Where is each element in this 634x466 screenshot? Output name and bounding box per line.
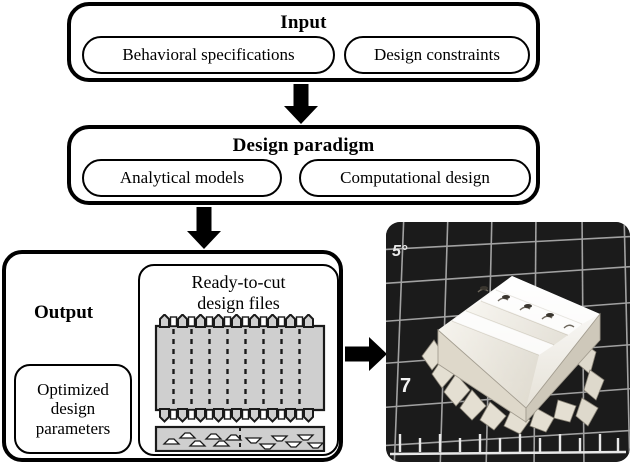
pill-design-constraints[interactable]: Design constraints: [344, 36, 530, 74]
bottom-tab-row: [160, 409, 313, 422]
design-files-title-line-1: Ready-to-cut: [140, 272, 337, 293]
arrow-input-to-paradigm: [285, 84, 317, 124]
top-tab-row: [160, 315, 313, 328]
design-files-title-line-2: design files: [140, 293, 337, 314]
input-stage-title: Input: [71, 12, 536, 34]
pill-label: Design constraints: [374, 45, 500, 65]
optimized-params-line-2: design: [51, 399, 95, 418]
hinge-strip: [156, 427, 324, 451]
pill-behavioral-specifications[interactable]: Behavioral specifications: [82, 36, 335, 74]
mat-mark-seven: 7: [400, 375, 411, 397]
design-paradigm-stage-box: Design paradigm Analytical models Comput…: [67, 125, 540, 205]
pill-analytical-models[interactable]: Analytical models: [82, 159, 282, 197]
workflow-diagram: Input Behavioral specifications Design c…: [0, 0, 634, 466]
design-files-title: Ready-to-cut design files: [140, 272, 337, 313]
arrow-output-to-photo: [345, 336, 387, 372]
output-stage-box: Output Optimized design parameters Ready…: [2, 250, 343, 462]
pill-label: Computational design: [340, 168, 490, 188]
input-stage-box: Input Behavioral specifications Design c…: [67, 2, 540, 82]
pill-label: Analytical models: [120, 168, 244, 188]
optimized-design-parameters-box[interactable]: Optimized design parameters: [14, 364, 132, 454]
pill-label: Behavioral specifications: [122, 45, 294, 65]
pill-computational-design[interactable]: Computational design: [299, 159, 531, 197]
cut-pattern-graphic: [150, 314, 330, 452]
photo-content: 5° 7: [386, 222, 630, 462]
output-stage-title: Output: [34, 302, 93, 324]
ready-to-cut-design-files-box[interactable]: Ready-to-cut design files: [138, 264, 339, 456]
arrow-paradigm-to-output: [188, 207, 220, 249]
optimized-params-line-3: parameters: [36, 419, 111, 438]
mat-mark-angle: 5°: [392, 243, 408, 260]
fabricated-sample-photo: 5° 7: [386, 222, 630, 462]
design-paradigm-stage-title: Design paradigm: [71, 135, 536, 157]
optimized-params-line-1: Optimized: [37, 380, 109, 399]
